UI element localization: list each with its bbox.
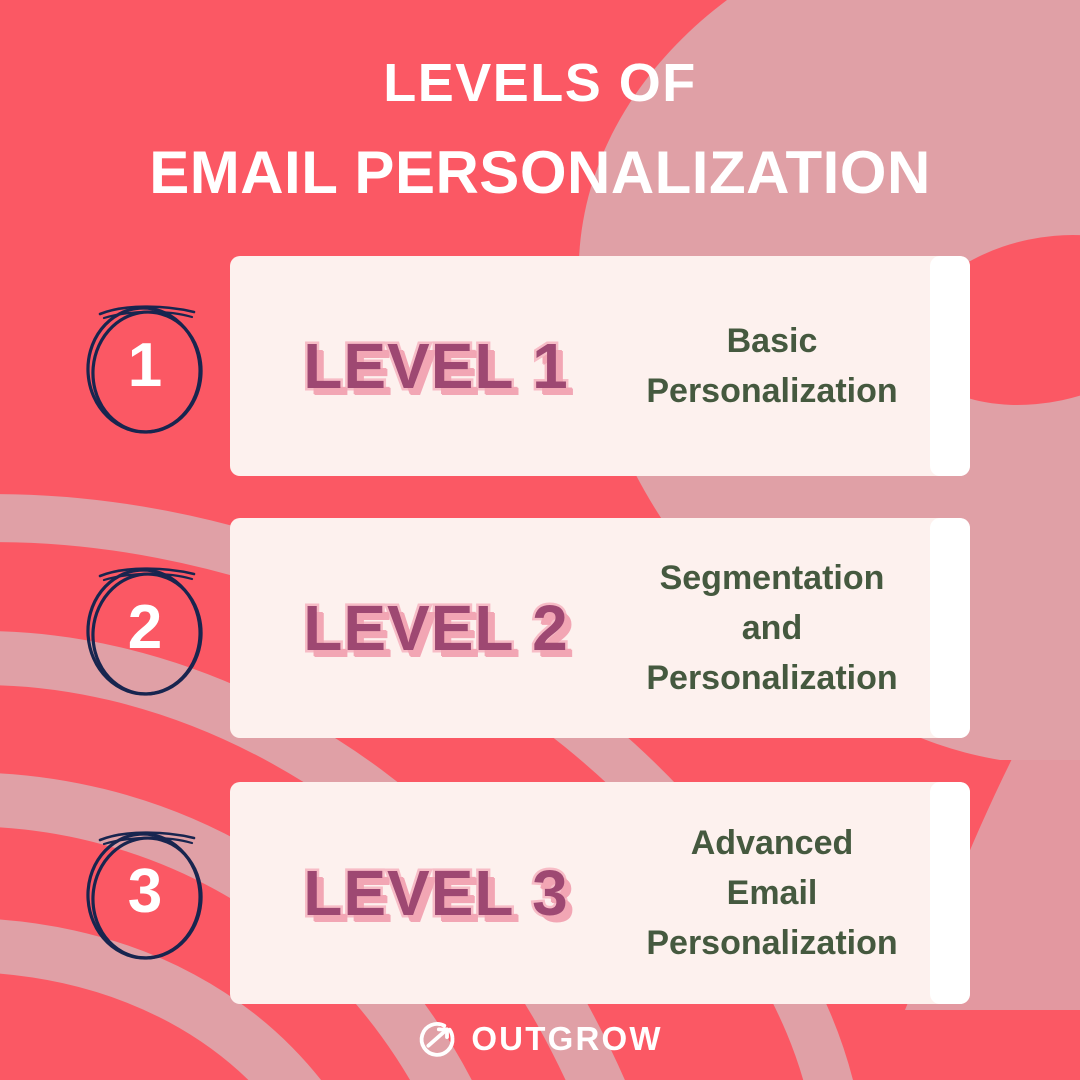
infographic-poster: LEVELS OF EMAIL PERSONALIZATION 1 LEVEL …: [0, 0, 1080, 1080]
title-line-2: EMAIL PERSONALIZATION: [0, 138, 1080, 208]
level-row: 3 LEVEL 3 Advanced Email Personalization: [0, 782, 1080, 1004]
level-title: LEVEL 2: [230, 596, 620, 660]
title-line-1: LEVELS OF: [0, 52, 1080, 114]
level-title: LEVEL 1: [230, 334, 620, 398]
level-description: Segmentation and Personalization: [620, 553, 930, 703]
level-badge: 2: [78, 546, 210, 710]
level-badge-number: 2: [78, 546, 210, 710]
card-accent-strip: [930, 256, 970, 476]
level-row: 2 LEVEL 2 Segmentation and Personalizati…: [0, 518, 1080, 738]
level-card[interactable]: LEVEL 3 Advanced Email Personalization: [230, 782, 970, 1004]
card-accent-strip: [930, 782, 970, 1004]
level-title: LEVEL 3: [230, 861, 620, 925]
level-description-line: Email: [620, 868, 924, 918]
card-accent-strip: [930, 518, 970, 738]
level-row: 1 LEVEL 1 Basic Personalization: [0, 256, 1080, 476]
level-badge-number: 3: [78, 810, 210, 974]
level-card[interactable]: LEVEL 2 Segmentation and Personalization: [230, 518, 970, 738]
level-description-line: Personalization: [620, 653, 924, 703]
level-card[interactable]: LEVEL 1 Basic Personalization: [230, 256, 970, 476]
level-badge-number: 1: [78, 284, 210, 448]
level-badge: 1: [78, 284, 210, 448]
page-title: LEVELS OF EMAIL PERSONALIZATION: [0, 52, 1080, 208]
outgrow-circle-arrow-icon: [417, 1018, 457, 1058]
brand-name: OUTGROW: [471, 1022, 662, 1055]
level-description-line: Basic: [620, 316, 924, 366]
level-description-line: Segmentation: [620, 553, 924, 603]
footer-branding: OUTGROW: [0, 1018, 1080, 1058]
level-description-line: Personalization: [620, 918, 924, 968]
level-description-line: and: [620, 603, 924, 653]
level-description-line: Personalization: [620, 366, 924, 416]
level-badge: 3: [78, 810, 210, 974]
level-description-line: Advanced: [620, 818, 924, 868]
level-description: Advanced Email Personalization: [620, 818, 930, 968]
level-description: Basic Personalization: [620, 316, 930, 416]
